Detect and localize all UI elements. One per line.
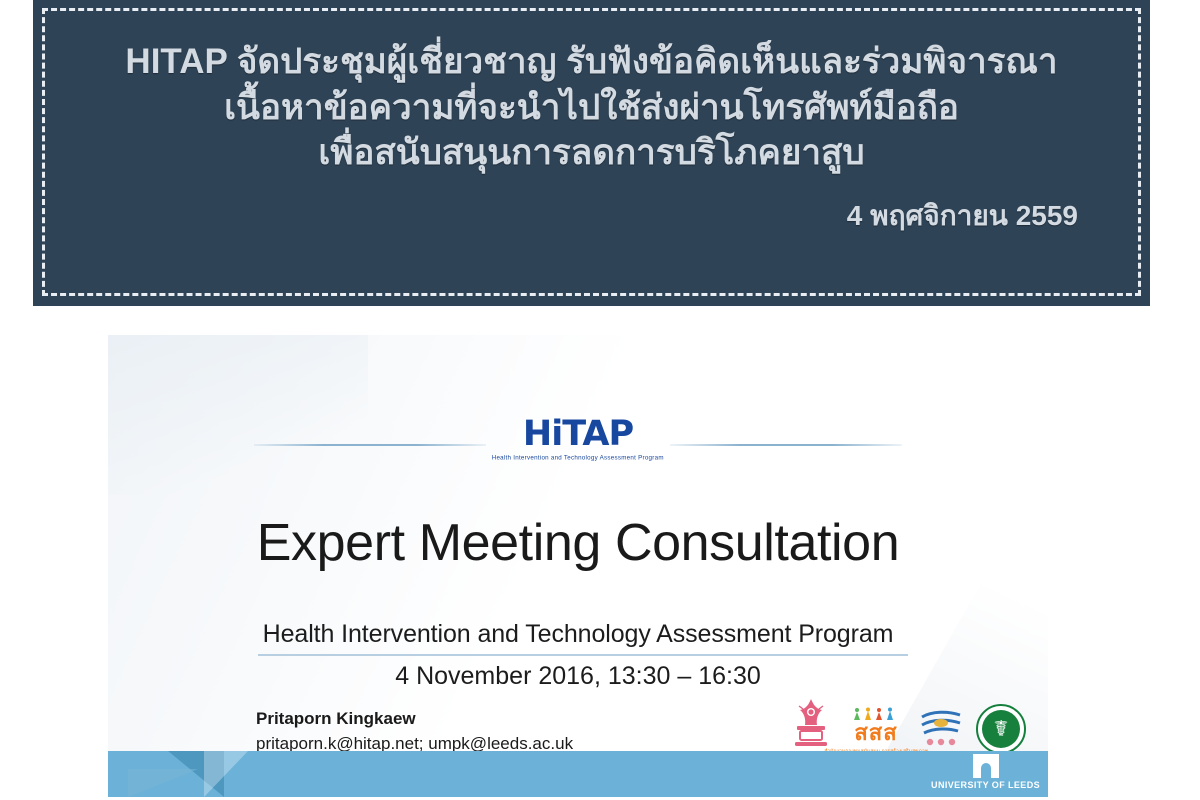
hitap-tagline: Health Intervention and Technology Asses… (492, 454, 664, 461)
announcement-line-1: HITAP จัดประชุมผู้เชี่ยวชาญ รับฟังข้อคิด… (71, 39, 1112, 85)
blue-wave-icon (920, 705, 962, 749)
presentation-slide: HiTAP Health Intervention and Technology… (108, 335, 1048, 797)
partner-logos: สสส สำนักงานกองทุนสนับสนุน การสร้างเสริม… (790, 697, 1026, 754)
organization-underline (258, 654, 908, 656)
announcement-banner: HITAP จัดประชุมผู้เชี่ยวชาญ รับฟังข้อคิด… (33, 0, 1150, 306)
slide-logo-row: HiTAP Health Intervention and Technology… (108, 423, 1048, 466)
nhso-blue-wave-logo (920, 705, 962, 754)
divider-rule-right (670, 444, 902, 446)
presenter-block: Pritaporn Kingkaew pritaporn.k@hitap.net… (256, 707, 573, 756)
divider-rule-left (254, 444, 486, 446)
slide-datetime: 4 November 2016, 13:30 – 16:30 (108, 662, 1048, 691)
slide-organization: Health Intervention and Technology Asses… (108, 620, 1048, 649)
nhso-emblem-logo (790, 697, 832, 754)
nhso-emblem-icon (790, 697, 832, 749)
ministry-of-public-health-logo: ☤ (976, 704, 1026, 754)
thaihealth-logo: สสส สำนักงานกองทุนสนับสนุน การสร้างเสริม… (846, 707, 906, 754)
caduceus-icon: ☤ (978, 706, 1024, 752)
announcement-date: 4 พฤศจิกายน 2559 (71, 194, 1112, 238)
leeds-footer-banner: UNIVERSITY OF LEEDS (108, 751, 1048, 797)
university-of-leeds-logo: UNIVERSITY OF LEEDS (931, 754, 1040, 790)
banner-decor-triangle-b (204, 751, 248, 797)
hitap-wordmark: HiTAP (523, 417, 633, 452)
presenter-name: Pritaporn Kingkaew (256, 707, 573, 732)
leeds-shield-icon (973, 754, 999, 778)
banner-decor-triangle-c (128, 769, 198, 797)
hitap-logo: HiTAP Health Intervention and Technology… (504, 417, 652, 460)
announcement-line-2: เนื้อหาข้อความที่จะนำไปใช้ส่งผ่านโทรศัพท… (71, 85, 1112, 131)
slide-title: Expert Meeting Consultation (108, 513, 1048, 573)
announcement-dashed-frame: HITAP จัดประชุมผู้เชี่ยวชาญ รับฟังข้อคิด… (42, 8, 1141, 296)
slide-decor-left (108, 335, 368, 495)
thaihealth-wordmark: สสส (854, 723, 897, 745)
announcement-line-3: เพื่อสนับสนุนการลดการบริโภคยาสูบ (71, 130, 1112, 176)
university-of-leeds-label: UNIVERSITY OF LEEDS (931, 780, 1040, 790)
